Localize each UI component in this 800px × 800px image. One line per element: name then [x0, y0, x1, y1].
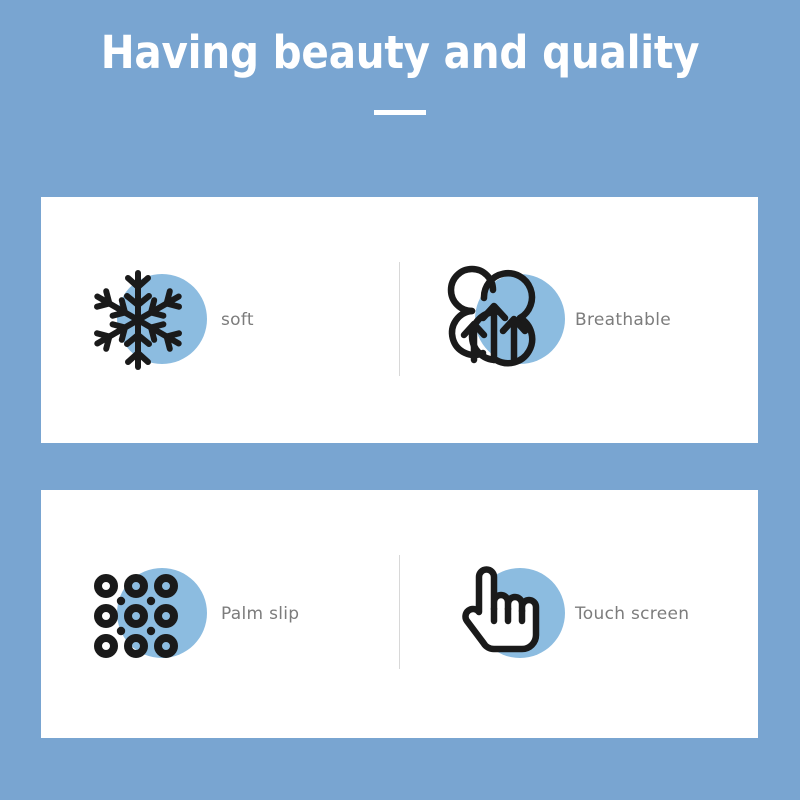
title-divider-dash — [374, 110, 426, 115]
column-divider — [399, 555, 400, 669]
icon-container — [441, 265, 551, 375]
feature-card-top: soft — [41, 197, 758, 443]
icon-container — [83, 265, 193, 375]
feature-item-touch-screen[interactable]: Touch screen — [441, 490, 741, 738]
pointing-hand-icon — [441, 559, 551, 669]
feature-item-breathable[interactable]: Breathable — [441, 197, 741, 443]
icon-container — [441, 559, 551, 669]
feature-label-soft: soft — [221, 310, 254, 330]
cloud-airflow-icon — [441, 265, 551, 375]
feature-label-breathable: Breathable — [575, 310, 671, 330]
anti-slip-dots-icon — [83, 559, 193, 669]
feature-card-bottom: Palm slip Touch screen — [41, 490, 758, 738]
feature-item-soft[interactable]: soft — [83, 197, 383, 443]
page-header: Having beauty and quality — [0, 0, 800, 180]
snowflake-icon — [83, 265, 193, 375]
feature-label-palm-slip: Palm slip — [221, 604, 299, 624]
icon-container — [83, 559, 193, 669]
feature-item-palm-slip[interactable]: Palm slip — [83, 490, 383, 738]
column-divider — [399, 262, 400, 376]
page-title: Having beauty and quality — [0, 22, 800, 84]
feature-label-touch-screen: Touch screen — [575, 604, 689, 624]
